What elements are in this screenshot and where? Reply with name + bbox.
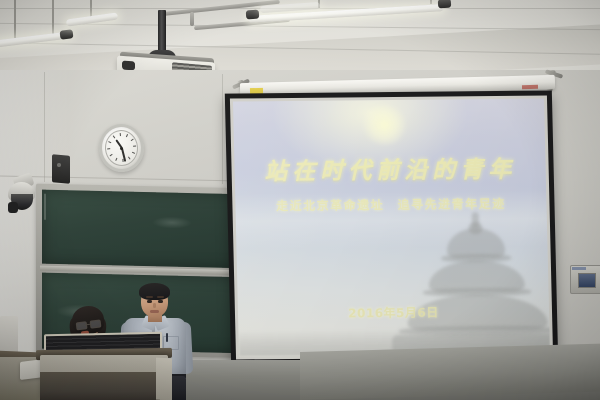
man-hair: [139, 283, 170, 300]
slide-sun-glow: [361, 105, 408, 145]
screen-brand-logo: [522, 85, 538, 89]
lectern-front-panel: [40, 372, 160, 400]
man-eyebrow-right: [157, 296, 164, 298]
classroom-photo: 站在时代前沿的青年 走近北京革命遗址 追寻先进青年足迹 2016年5月6日: [0, 0, 600, 400]
projection-screen: 站在时代前沿的青年 走近北京革命遗址 追寻先进青年足迹 2016年5月6日: [225, 90, 558, 365]
man-eye-left: [147, 300, 152, 303]
slide-subtitle: 走近北京革命遗址 追寻先进青年足迹: [235, 194, 546, 214]
slide-title: 站在时代前沿的青年: [234, 150, 546, 187]
wall-seam: [222, 74, 223, 184]
floor-right: [300, 344, 600, 400]
light-hanger: [52, 0, 54, 34]
light-end-cap: [246, 10, 260, 20]
light-hanger: [14, 0, 16, 38]
blackboard-upper-panel: [42, 190, 248, 269]
clock-tick: [113, 135, 116, 138]
control-panel-label: [572, 267, 586, 270]
camera-lens-icon: [8, 202, 18, 213]
glasses-lens-right: [90, 319, 102, 328]
glasses-lens-left: [76, 321, 88, 330]
clock-tick: [109, 154, 112, 157]
wall-seam: [44, 72, 45, 182]
pen-icon: [166, 333, 168, 342]
glasses-icon: [76, 320, 101, 330]
clock-center-pin: [120, 146, 123, 149]
projector-lens: [122, 61, 135, 71]
clock-tick: [133, 146, 136, 148]
screen-bezel: 站在时代前沿的青年 走近北京革命遗址 追寻先进青年足迹 2016年5月6日: [230, 96, 553, 360]
clock-tick: [120, 133, 122, 136]
man-mouth: [150, 310, 159, 313]
wall-speaker: [52, 154, 70, 184]
clock-tick: [108, 141, 111, 144]
man-eyebrow-left: [146, 296, 153, 298]
slide-canvas: 站在时代前沿的青年 走近北京革命遗址 追寻先进青年足迹 2016年5月6日: [233, 99, 550, 357]
light-hanger: [430, 0, 432, 4]
light-end-cap: [60, 29, 74, 40]
speaker-driver: [57, 163, 61, 167]
lectern-side-panel: [156, 358, 172, 400]
control-panel-display[interactable]: [578, 273, 596, 288]
clock-dial: [103, 129, 139, 168]
light-end-cap: [438, 0, 452, 8]
ceiling-pipe-elbow: [190, 12, 194, 26]
man-eye-right: [158, 300, 163, 303]
slide-date: 2016年5月6日: [238, 302, 549, 322]
clock-tick: [107, 148, 110, 150]
clock-tick: [127, 157, 130, 160]
blackboard-glare: [44, 194, 46, 220]
clock-tick: [132, 152, 135, 155]
man-nose: [153, 303, 156, 308]
clock-tick: [126, 134, 129, 137]
clock-tick: [115, 158, 118, 161]
clock-tick: [130, 139, 133, 142]
